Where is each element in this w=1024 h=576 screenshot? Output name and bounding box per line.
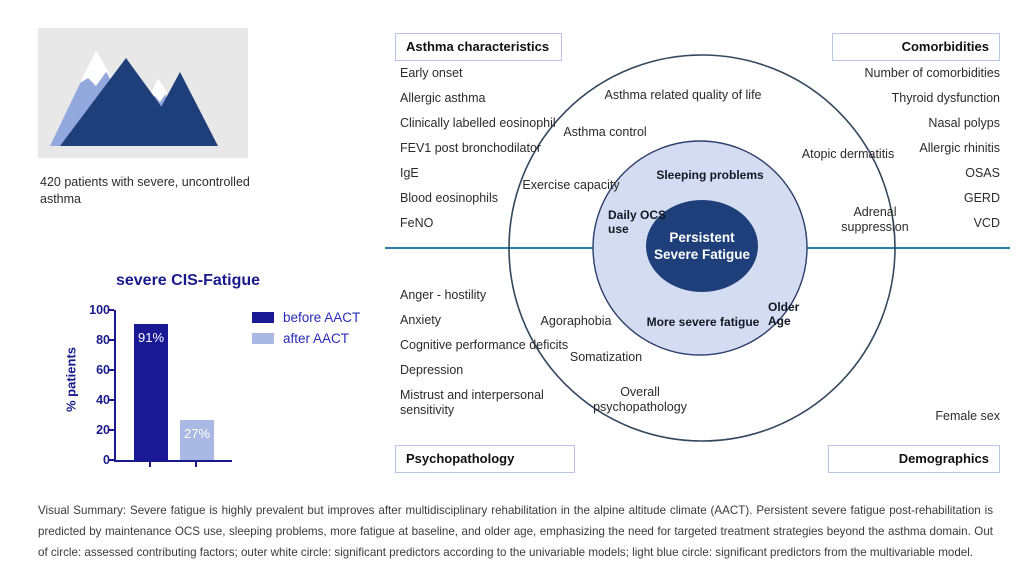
list-item: FEV1 post bronchodilator bbox=[400, 141, 575, 156]
list-item: OSAS bbox=[810, 166, 1000, 181]
list-item: Female sex bbox=[880, 409, 1000, 424]
ocs-line-2: use bbox=[608, 222, 629, 236]
cohort-caption: 420 patients with severe, uncontrolled a… bbox=[40, 174, 265, 208]
tick-100 bbox=[108, 309, 114, 311]
visual-summary-caption: Visual Summary: Severe fatigue is highly… bbox=[38, 500, 993, 563]
bar-label-before: 91% bbox=[134, 330, 168, 345]
y-tick-60: 60 bbox=[76, 363, 110, 377]
bar-label-after: 27% bbox=[180, 426, 214, 441]
legend-swatch-before bbox=[252, 312, 274, 323]
legend-item-after[interactable]: after AACT bbox=[252, 331, 360, 346]
predictor-circles-diagram: Asthma characteristics Comorbidities Psy… bbox=[380, 20, 1010, 480]
list-item: Number of comorbidities bbox=[810, 66, 1000, 81]
ocs-line-1: Daily OCS bbox=[608, 208, 666, 222]
bar-before-aact[interactable]: 91% bbox=[134, 324, 168, 460]
cis-fatigue-bar-chart: severe CIS-Fatigue % patients 100 80 60 … bbox=[30, 272, 370, 484]
adrenal-line-2: suppression bbox=[841, 220, 908, 234]
overall-line-2: psychopathology bbox=[593, 400, 687, 414]
chart-title: severe CIS-Fatigue bbox=[78, 272, 298, 290]
header-demographics: Demographics bbox=[828, 445, 1000, 473]
mountains-icon bbox=[38, 28, 248, 158]
list-item: Allergic asthma bbox=[400, 91, 575, 106]
y-tick-20: 20 bbox=[76, 423, 110, 437]
y-tick-0: 0 bbox=[76, 453, 110, 467]
bar-after-aact[interactable]: 27% bbox=[180, 420, 214, 460]
list-item: Thyroid dysfunction bbox=[810, 91, 1000, 106]
list-item: Depression bbox=[400, 363, 580, 378]
inner-label-sleeping-problems: Sleeping problems bbox=[630, 168, 790, 182]
chart-x-axis bbox=[114, 460, 232, 462]
visual-summary-page: 420 patients with severe, uncontrolled a… bbox=[0, 0, 1024, 576]
chart-legend: before AACT after AACT bbox=[252, 310, 360, 352]
tick-0 bbox=[108, 459, 114, 461]
overall-line-1: Overall bbox=[620, 385, 660, 399]
chart-y-axis bbox=[114, 310, 116, 462]
legend-swatch-after bbox=[252, 333, 274, 344]
header-psychopathology: Psychopathology bbox=[395, 445, 575, 473]
y-tick-80: 80 bbox=[76, 333, 110, 347]
ring-label-quality-of-life: Asthma related quality of life bbox=[578, 88, 788, 103]
list-item: GERD bbox=[810, 191, 1000, 206]
list-item: Blood eosinophils bbox=[400, 191, 575, 206]
y-tick-100: 100 bbox=[76, 303, 110, 317]
core-line-2: Severe Fatigue bbox=[654, 247, 750, 262]
chart-y-axis-ticks: 100 80 60 40 20 0 bbox=[70, 272, 110, 484]
tick-80 bbox=[108, 339, 114, 341]
x-tick-after bbox=[195, 460, 197, 467]
ring-label-atopic-dermatitis: Atopic dermatitis bbox=[778, 147, 918, 162]
list-item: Anger - hostility bbox=[400, 288, 580, 303]
legend-item-before[interactable]: before AACT bbox=[252, 310, 360, 325]
ring-label-exercise-capacity: Exercise capacity bbox=[506, 178, 636, 193]
ring-label-somatization: Somatization bbox=[546, 350, 666, 365]
alpine-mountains-image bbox=[38, 28, 248, 158]
y-tick-40: 40 bbox=[76, 393, 110, 407]
ring-label-agoraphobia: Agoraphobia bbox=[521, 314, 631, 329]
list-item: Early onset bbox=[400, 66, 575, 81]
chart-plot-area: 91% 27% bbox=[114, 310, 232, 460]
list-item: Mistrust and interpersonal sensitivity bbox=[400, 388, 580, 418]
ring-label-overall-psychopathology: Overall psychopathology bbox=[575, 385, 705, 415]
list-item: Nasal polyps bbox=[810, 116, 1000, 131]
legend-label-before: before AACT bbox=[283, 310, 360, 325]
list-demographics: Female sex bbox=[880, 409, 1000, 424]
legend-label-after: after AACT bbox=[283, 331, 349, 346]
tick-40 bbox=[108, 399, 114, 401]
ring-label-asthma-control: Asthma control bbox=[540, 125, 670, 140]
list-asthma-characteristics: Early onset Allergic asthma Clinically l… bbox=[400, 66, 575, 241]
ring-label-adrenal-suppression: Adrenal suppression bbox=[820, 205, 930, 235]
adrenal-line-1: Adrenal bbox=[853, 205, 896, 219]
header-asthma-characteristics: Asthma characteristics bbox=[395, 33, 562, 61]
header-comorbidities: Comorbidities bbox=[832, 33, 1000, 61]
core-line-1: Persistent bbox=[669, 230, 734, 245]
core-label-persistent-severe-fatigue: Persistent Severe Fatigue bbox=[632, 229, 772, 263]
x-tick-before bbox=[149, 460, 151, 467]
inner-label-more-severe-fatigue: More severe fatigue bbox=[618, 315, 788, 329]
older-line-1: Older bbox=[768, 300, 799, 314]
list-item: FeNO bbox=[400, 216, 575, 231]
tick-20 bbox=[108, 429, 114, 431]
tick-60 bbox=[108, 369, 114, 371]
